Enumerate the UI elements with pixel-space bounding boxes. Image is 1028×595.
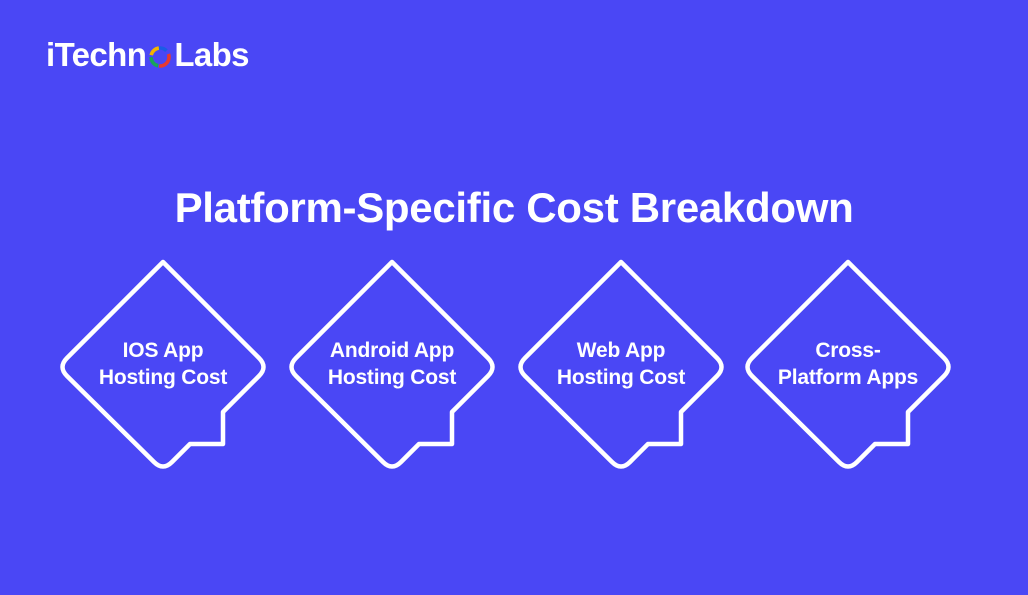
platform-card-ios[interactable]: IOS App Hosting Cost [47,248,279,480]
brand-logo[interactable]: iTechn Labs [46,36,249,74]
slide-canvas: iTechn Labs Platform-Specific Cost Break… [0,0,1028,595]
multicolor-ring-icon [147,44,173,70]
page-title: Platform-Specific Cost Breakdown [0,182,1028,234]
logo-text-after: Labs [174,36,249,74]
platform-card-web[interactable]: Web App Hosting Cost [505,248,737,480]
logo-text-before: iTechn [46,36,146,74]
platform-card-android[interactable]: Android App Hosting Cost [276,248,508,480]
platform-card-cross-platform[interactable]: Cross- Platform Apps [732,248,964,480]
diamond-bubble-shape [47,248,279,480]
diamond-bubble-shape [276,248,508,480]
diamond-bubble-shape [505,248,737,480]
platform-card-row: IOS App Hosting Cost Android App Hosting… [0,248,1028,488]
diamond-bubble-shape [732,248,964,480]
